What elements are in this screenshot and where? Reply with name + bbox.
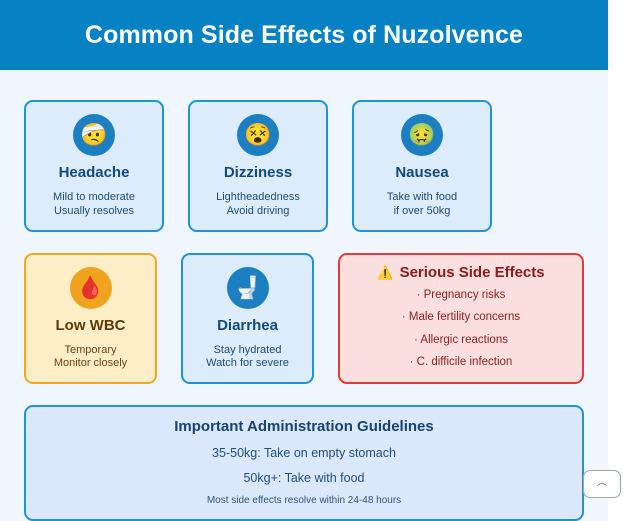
side-effect-card-nausea[interactable]: 🤢 Nausea Take with food if over 50kg xyxy=(352,100,492,232)
serious-side-effects-panel: ⚠️ Serious Side Effects · Pregnancy risk… xyxy=(338,253,584,385)
card-desc-line-2: Usually resolves xyxy=(54,205,134,219)
card-desc-line-1: Temporary xyxy=(65,344,117,358)
guidelines-title: Important Administration Guidelines xyxy=(36,419,572,434)
blood-drop-icon: 🩸 xyxy=(70,267,112,309)
side-effect-card-headache[interactable]: 🤕 Headache Mild to moderate Usually reso… xyxy=(24,100,164,232)
warning-triangle-icon: ⚠️ xyxy=(377,266,393,279)
serious-list-item: · Male fertility concerns xyxy=(348,312,574,324)
chat-bubble-icon: ⌒ xyxy=(597,485,607,495)
page-title: Common Side Effects of Nuzolvence xyxy=(85,23,523,48)
guideline-line-1: 35-50kg: Take on empty stomach xyxy=(36,447,572,460)
dizzy-face-icon: 😵 xyxy=(237,114,279,156)
floating-help-widget[interactable]: ⌒ xyxy=(583,470,621,498)
card-title: Diarrhea xyxy=(217,318,278,333)
serious-list-item: · C. difficile infection xyxy=(348,357,574,369)
serious-panel-header: ⚠️ Serious Side Effects xyxy=(348,265,574,280)
card-title: Nausea xyxy=(395,165,448,180)
side-effect-card-diarrhea[interactable]: 🚽 Diarrhea Stay hydrated Watch for sever… xyxy=(181,253,314,385)
card-desc-line-1: Mild to moderate xyxy=(53,191,135,205)
page-root: Common Side Effects of Nuzolvence 🤕 Head… xyxy=(0,0,608,521)
card-desc-line-2: Avoid driving xyxy=(227,205,290,219)
content-area: 🤕 Headache Mild to moderate Usually reso… xyxy=(0,70,608,521)
serious-list-item: · Allergic reactions xyxy=(348,335,574,347)
card-desc-line-2: Watch for severe xyxy=(206,357,289,371)
face-with-head-bandage-icon: 🤕 xyxy=(73,114,115,156)
card-desc-line-2: if over 50kg xyxy=(394,205,451,219)
card-desc-line-1: Stay hydrated xyxy=(214,344,282,358)
guideline-line-2: 50kg+: Take with food xyxy=(36,472,572,485)
page-header: Common Side Effects of Nuzolvence xyxy=(0,0,608,70)
guidelines-note: Most side effects resolve within 24-48 h… xyxy=(36,496,572,506)
card-row-2: 🩸 Low WBC Temporary Monitor closely 🚽 Di… xyxy=(24,253,584,385)
administration-guidelines-panel: Important Administration Guidelines 35-5… xyxy=(24,405,584,521)
nauseated-face-icon: 🤢 xyxy=(401,114,443,156)
toilet-icon: 🚽 xyxy=(227,267,269,309)
card-desc-line-1: Take with food xyxy=(387,191,457,205)
serious-panel-title: Serious Side Effects xyxy=(400,265,545,280)
card-desc-line-1: Lightheadedness xyxy=(216,191,300,205)
card-title: Low WBC xyxy=(56,318,126,333)
card-desc-line-2: Monitor closely xyxy=(54,357,127,371)
card-title: Headache xyxy=(59,165,130,180)
side-effect-card-dizziness[interactable]: 😵 Dizziness Lightheadedness Avoid drivin… xyxy=(188,100,328,232)
serious-list-item: · Pregnancy risks xyxy=(348,290,574,302)
side-effect-card-low-wbc[interactable]: 🩸 Low WBC Temporary Monitor closely xyxy=(24,253,157,385)
card-row-1: 🤕 Headache Mild to moderate Usually reso… xyxy=(24,100,584,232)
card-title: Dizziness xyxy=(224,165,292,180)
